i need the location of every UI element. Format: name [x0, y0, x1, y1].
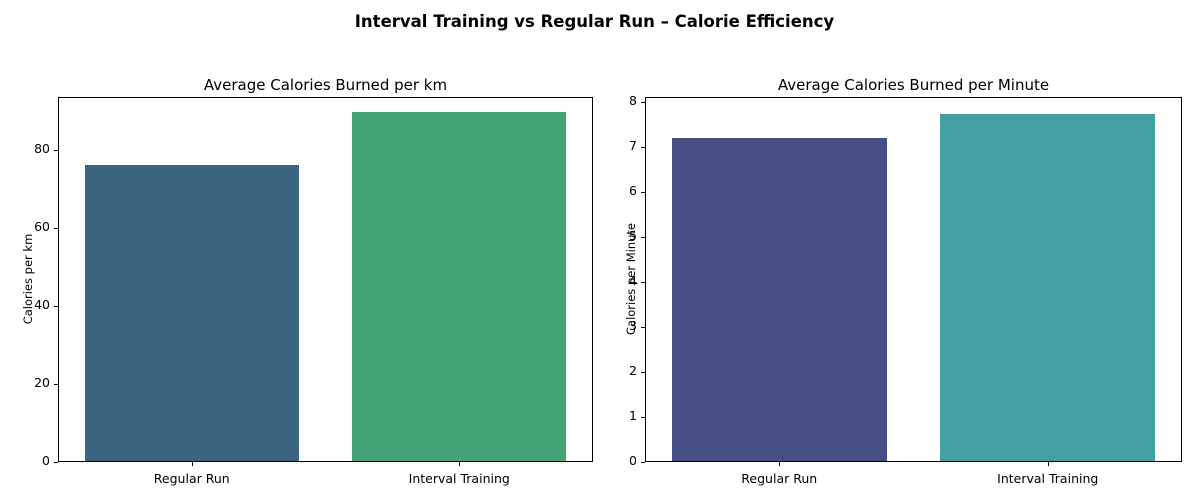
- subplot-calories-per-minute: Average Calories Burned per Minute Calor…: [600, 0, 1189, 495]
- subplot-0-ytick-mark: [54, 150, 58, 151]
- subplot-0-ytick-mark: [54, 228, 58, 229]
- subplot-1-ytick-mark: [641, 327, 645, 328]
- subplot-1-ytick-mark: [641, 192, 645, 193]
- subplot-1-ytick-label: 7: [597, 140, 637, 153]
- bar-regular-run[interactable]: [85, 165, 299, 461]
- subplot-0-xtick-mark: [459, 462, 460, 466]
- bar-regular-run[interactable]: [672, 138, 887, 461]
- subplot-1-ytick-mark: [641, 237, 645, 238]
- xtick-label-regular-run: Regular Run: [92, 473, 292, 486]
- subplot-1-ytick-mark: [641, 282, 645, 283]
- subplot-1-ytick-label: 8: [597, 95, 637, 108]
- subplot-1-ytick-label: 0: [597, 455, 637, 468]
- subplot-0-xtick-mark: [192, 462, 193, 466]
- subplot-0-ytick-label: 60: [10, 221, 50, 234]
- subplot-1-ytick-mark: [641, 417, 645, 418]
- subplot-0-ytick-label: 40: [10, 299, 50, 312]
- xtick-label-interval-training: Interval Training: [948, 473, 1148, 486]
- figure-canvas: Interval Training vs Regular Run – Calor…: [0, 0, 1189, 495]
- bar-interval-training[interactable]: [940, 114, 1155, 461]
- subplot-0-ytick-mark: [54, 384, 58, 385]
- subplot-1-ytick-label: 2: [597, 365, 637, 378]
- subplot-0-ytick-label: 80: [10, 143, 50, 156]
- subplot-1-xtick-mark: [779, 462, 780, 466]
- subplot-0-ytick-label: 0: [10, 455, 50, 468]
- subplot-1-ytick-mark: [641, 462, 645, 463]
- subplot-1-ytick-label: 6: [597, 185, 637, 198]
- subplot-1-ytick-label: 4: [597, 275, 637, 288]
- subplot-1-xtick-mark: [1048, 462, 1049, 466]
- subplot-0-ytick-mark: [54, 462, 58, 463]
- bar-interval-training[interactable]: [352, 112, 566, 461]
- subplot-1-ytick-mark: [641, 102, 645, 103]
- xtick-label-interval-training: Interval Training: [359, 473, 559, 486]
- subplot-0-title: Average Calories Burned per km: [58, 76, 593, 94]
- subplot-calories-per-km: Average Calories Burned per km Calories …: [0, 0, 600, 495]
- subplot-0-ytick-label: 20: [10, 377, 50, 390]
- subplot-1-ytick-label: 3: [597, 320, 637, 333]
- subplot-0-ytick-mark: [54, 306, 58, 307]
- subplot-1-title: Average Calories Burned per Minute: [645, 76, 1182, 94]
- subplot-1-ytick-mark: [641, 147, 645, 148]
- subplot-1-ytick-label: 5: [597, 230, 637, 243]
- subplot-1-ytick-label: 1: [597, 410, 637, 423]
- xtick-label-regular-run: Regular Run: [679, 473, 879, 486]
- subplot-1-ytick-mark: [641, 372, 645, 373]
